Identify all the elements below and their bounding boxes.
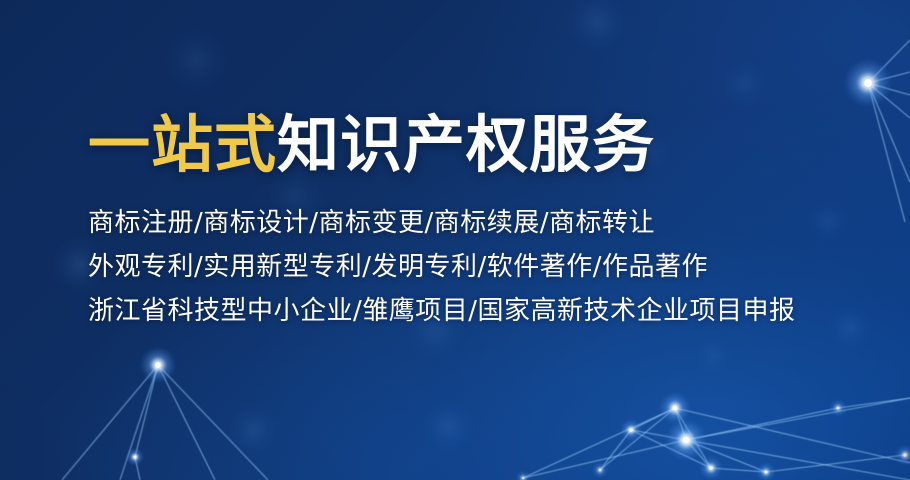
network-edge — [62, 365, 158, 480]
network-node — [629, 428, 633, 432]
background-glow-blob — [420, 399, 476, 455]
network-node-halo — [139, 346, 176, 383]
network-node-halo — [126, 448, 145, 467]
network-edge — [631, 408, 675, 430]
service-line-program: 浙江省科技型中小企业/雏鹰项目/国家高新技术企业项目申报 — [88, 289, 828, 333]
network-node — [709, 466, 713, 470]
page-title: 一站式知识产权服务 — [88, 112, 828, 179]
network-edge — [631, 430, 711, 468]
network-edge — [158, 365, 268, 480]
background-glow-blob — [227, 404, 279, 456]
network-node — [522, 477, 524, 479]
network-edge — [686, 440, 910, 480]
network-edge — [600, 430, 631, 470]
network-edge — [686, 440, 766, 472]
network-edge — [675, 408, 686, 440]
network-edge — [766, 455, 905, 472]
network-node — [837, 407, 840, 410]
network-node — [599, 469, 602, 472]
network-node-halo — [699, 456, 723, 480]
network-node-halo — [619, 418, 642, 441]
network-edge — [631, 430, 686, 440]
network-edge — [868, 83, 910, 118]
network-edge — [523, 408, 675, 478]
network-node — [864, 79, 872, 87]
network-edge — [686, 398, 910, 440]
network-edge — [135, 365, 158, 457]
network-node — [155, 362, 161, 368]
network-edge — [675, 408, 711, 468]
network-edge — [711, 468, 766, 472]
background-glow-blob — [693, 335, 733, 375]
network-edge — [838, 398, 910, 408]
network-edge — [868, 83, 905, 222]
network-node — [134, 456, 137, 459]
network-node — [903, 453, 906, 456]
network-edge — [868, 83, 910, 182]
network-node-halo — [843, 58, 893, 108]
network-edge — [600, 408, 675, 470]
network-edge — [120, 365, 158, 480]
background-glow-blob — [566, 0, 628, 53]
promo-banner: 一站式知识产权服务 商标注册/商标设计/商标变更/商标续展/商标转让 外观专利/… — [0, 0, 910, 480]
service-line-trademark: 商标注册/商标设计/商标变更/商标续展/商标转让 — [88, 201, 828, 245]
background-glow-blob — [827, 305, 873, 351]
network-edge — [158, 365, 215, 480]
network-node — [672, 405, 677, 410]
network-edge — [523, 440, 686, 478]
background-glow-blob — [720, 59, 770, 109]
service-line-patent: 外观专利/实用新型专利/发明专利/软件著作/作品著作 — [88, 245, 828, 289]
network-node-halo — [591, 461, 608, 478]
network-edge — [868, 83, 910, 95]
network-node-halo — [756, 462, 776, 480]
network-node-halo — [664, 418, 707, 461]
network-edge — [135, 457, 140, 480]
network-edge — [686, 440, 711, 468]
banner-content: 一站式知识产权服务 商标注册/商标设计/商标变更/商标续展/商标转让 外观专利/… — [88, 112, 828, 333]
background-glow-blob — [163, 27, 229, 93]
network-edge — [868, 40, 910, 83]
network-node-halo — [894, 444, 910, 466]
headline-highlight: 一站式 — [88, 108, 277, 181]
network-node-halo — [829, 399, 848, 418]
network-edge — [675, 408, 910, 463]
network-node — [683, 437, 690, 444]
network-node-halo — [658, 391, 691, 424]
network-edge — [868, 72, 910, 83]
network-node-halo — [515, 470, 531, 480]
network-node — [764, 470, 767, 473]
headline-rest: 知识产权服务 — [277, 108, 655, 181]
network-edge — [686, 408, 838, 440]
